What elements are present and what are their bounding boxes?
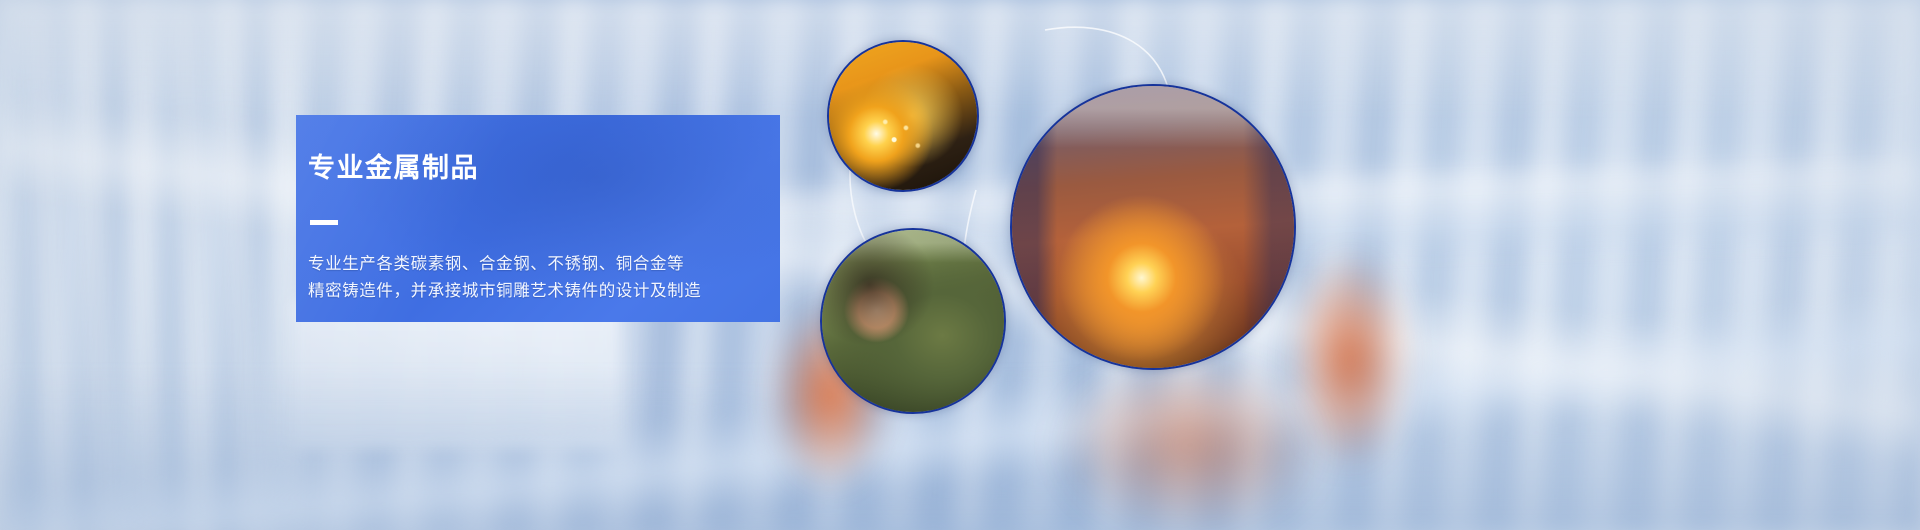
description-line-2: 精密铸造件，并承接城市铜雕艺术铸件的设计及制造	[308, 278, 780, 305]
photo-welding-sparks	[827, 40, 979, 192]
photo-foundry-pour-image	[1012, 86, 1294, 368]
hero-banner: 专业金属制品 专业生产各类碳素钢、合金钢、不锈钢、铜合金等 精密铸造件，并承接城…	[0, 0, 1920, 530]
photo-worker-inspection-image	[822, 230, 1004, 412]
photo-foundry-pour	[1010, 84, 1296, 370]
photo-welding-sparks-image	[829, 42, 977, 190]
hero-text-panel: 专业金属制品 专业生产各类碳素钢、合金钢、不锈钢、铜合金等 精密铸造件，并承接城…	[296, 115, 780, 322]
description-line-1: 专业生产各类碳素钢、合金钢、不锈钢、铜合金等	[308, 251, 780, 278]
page-title: 专业金属制品	[308, 155, 780, 182]
hero-description: 专业生产各类碳素钢、合金钢、不锈钢、铜合金等 精密铸造件，并承接城市铜雕艺术铸件…	[308, 251, 780, 305]
photo-worker-inspection	[820, 228, 1006, 414]
title-divider	[310, 220, 338, 225]
